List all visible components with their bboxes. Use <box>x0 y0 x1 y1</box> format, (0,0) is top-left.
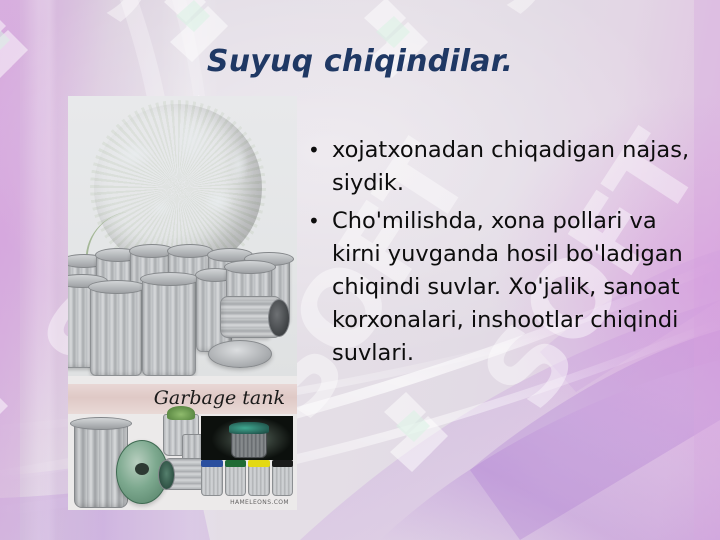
bullet-text: xojatxonadan chiqadigan najas, siydik. <box>332 134 700 200</box>
recycling-bin <box>201 464 223 496</box>
recycling-bin <box>225 464 247 496</box>
slide-body-text: • xojatxonadan chiqadigan najas, siydik.… <box>308 134 700 375</box>
garbage-can-lid <box>208 340 272 368</box>
garbage-can <box>90 286 142 376</box>
garbage-can-group <box>68 236 297 376</box>
garbage-tank-collage-photo: Garbage tank HAMELEONS.COM <box>68 376 297 510</box>
presentation-slide: SOFT SOFT <box>0 0 720 540</box>
bullet-item: • Cho'milishda, xona pollari va kirni yu… <box>308 205 700 370</box>
garbage-can <box>142 278 196 376</box>
color-coded-recycling-bins <box>201 464 293 496</box>
slide-title: Suyuq chiqindilar. <box>60 44 660 80</box>
bullet-marker-icon: • <box>308 134 332 167</box>
night-garbage-bin-photo <box>201 416 293 460</box>
recycling-bin <box>272 464 294 496</box>
tipped-garbage-can <box>220 296 282 338</box>
recycling-bin <box>248 464 270 496</box>
photo-credit-watermark: HAMELEONS.COM <box>230 499 289 506</box>
bullet-item: • xojatxonadan chiqadigan najas, siydik. <box>308 134 700 200</box>
bullet-marker-icon: • <box>308 205 332 238</box>
green-globe-with-garbage-cans-photo <box>68 96 297 376</box>
bullet-text: Cho'milishda, xona pollari va kirni yuvg… <box>332 205 700 370</box>
